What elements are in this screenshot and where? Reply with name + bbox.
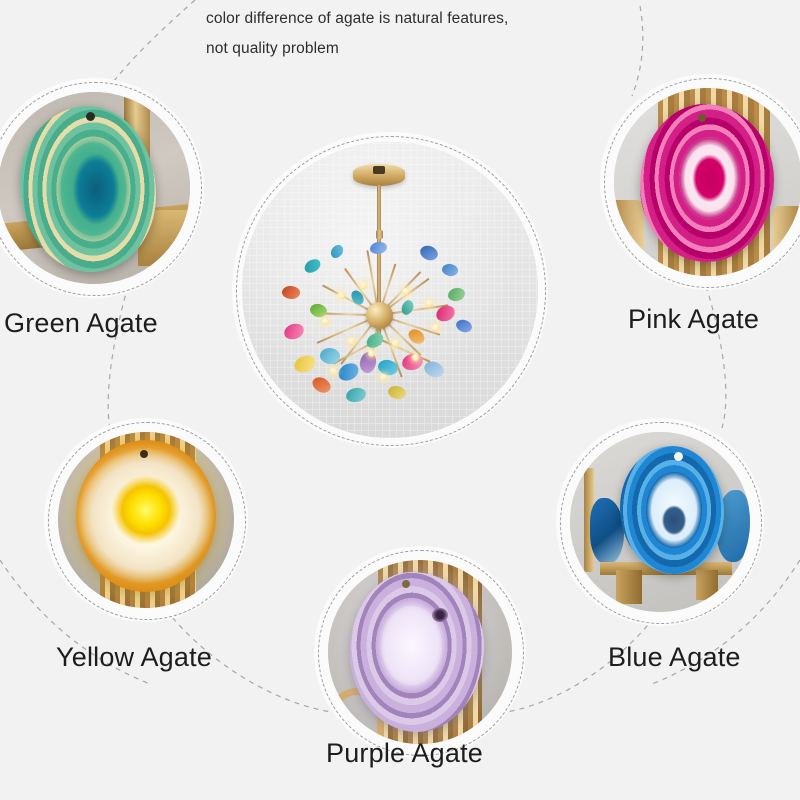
infographic-canvas: color difference of agate is natural fea…	[0, 0, 800, 800]
canopy-detail	[373, 166, 385, 174]
variant-photo-purple[interactable]	[328, 560, 512, 744]
center-chandelier-photo[interactable]	[242, 142, 538, 438]
arc-pink-top	[632, 6, 643, 96]
variant-label-pink: Pink Agate	[628, 304, 759, 335]
variant-label-green: Green Agate	[4, 308, 158, 339]
variant-label-yellow: Yellow Agate	[56, 642, 212, 673]
variant-label-blue: Blue Agate	[608, 642, 741, 673]
yellow-agate-slice	[76, 440, 216, 592]
color-disclaimer-note: color difference of agate is natural fea…	[206, 4, 626, 64]
center-hub	[366, 302, 393, 329]
variant-photo-pink[interactable]	[614, 88, 800, 276]
variant-photo-green[interactable]	[0, 92, 190, 284]
pink-agate-slice	[640, 104, 774, 262]
variant-label-purple: Purple Agate	[326, 738, 483, 769]
blue-agate-slice	[620, 446, 724, 574]
variant-photo-yellow[interactable]	[58, 432, 234, 608]
variant-photo-blue[interactable]	[570, 432, 750, 612]
rod-joint	[376, 230, 383, 239]
